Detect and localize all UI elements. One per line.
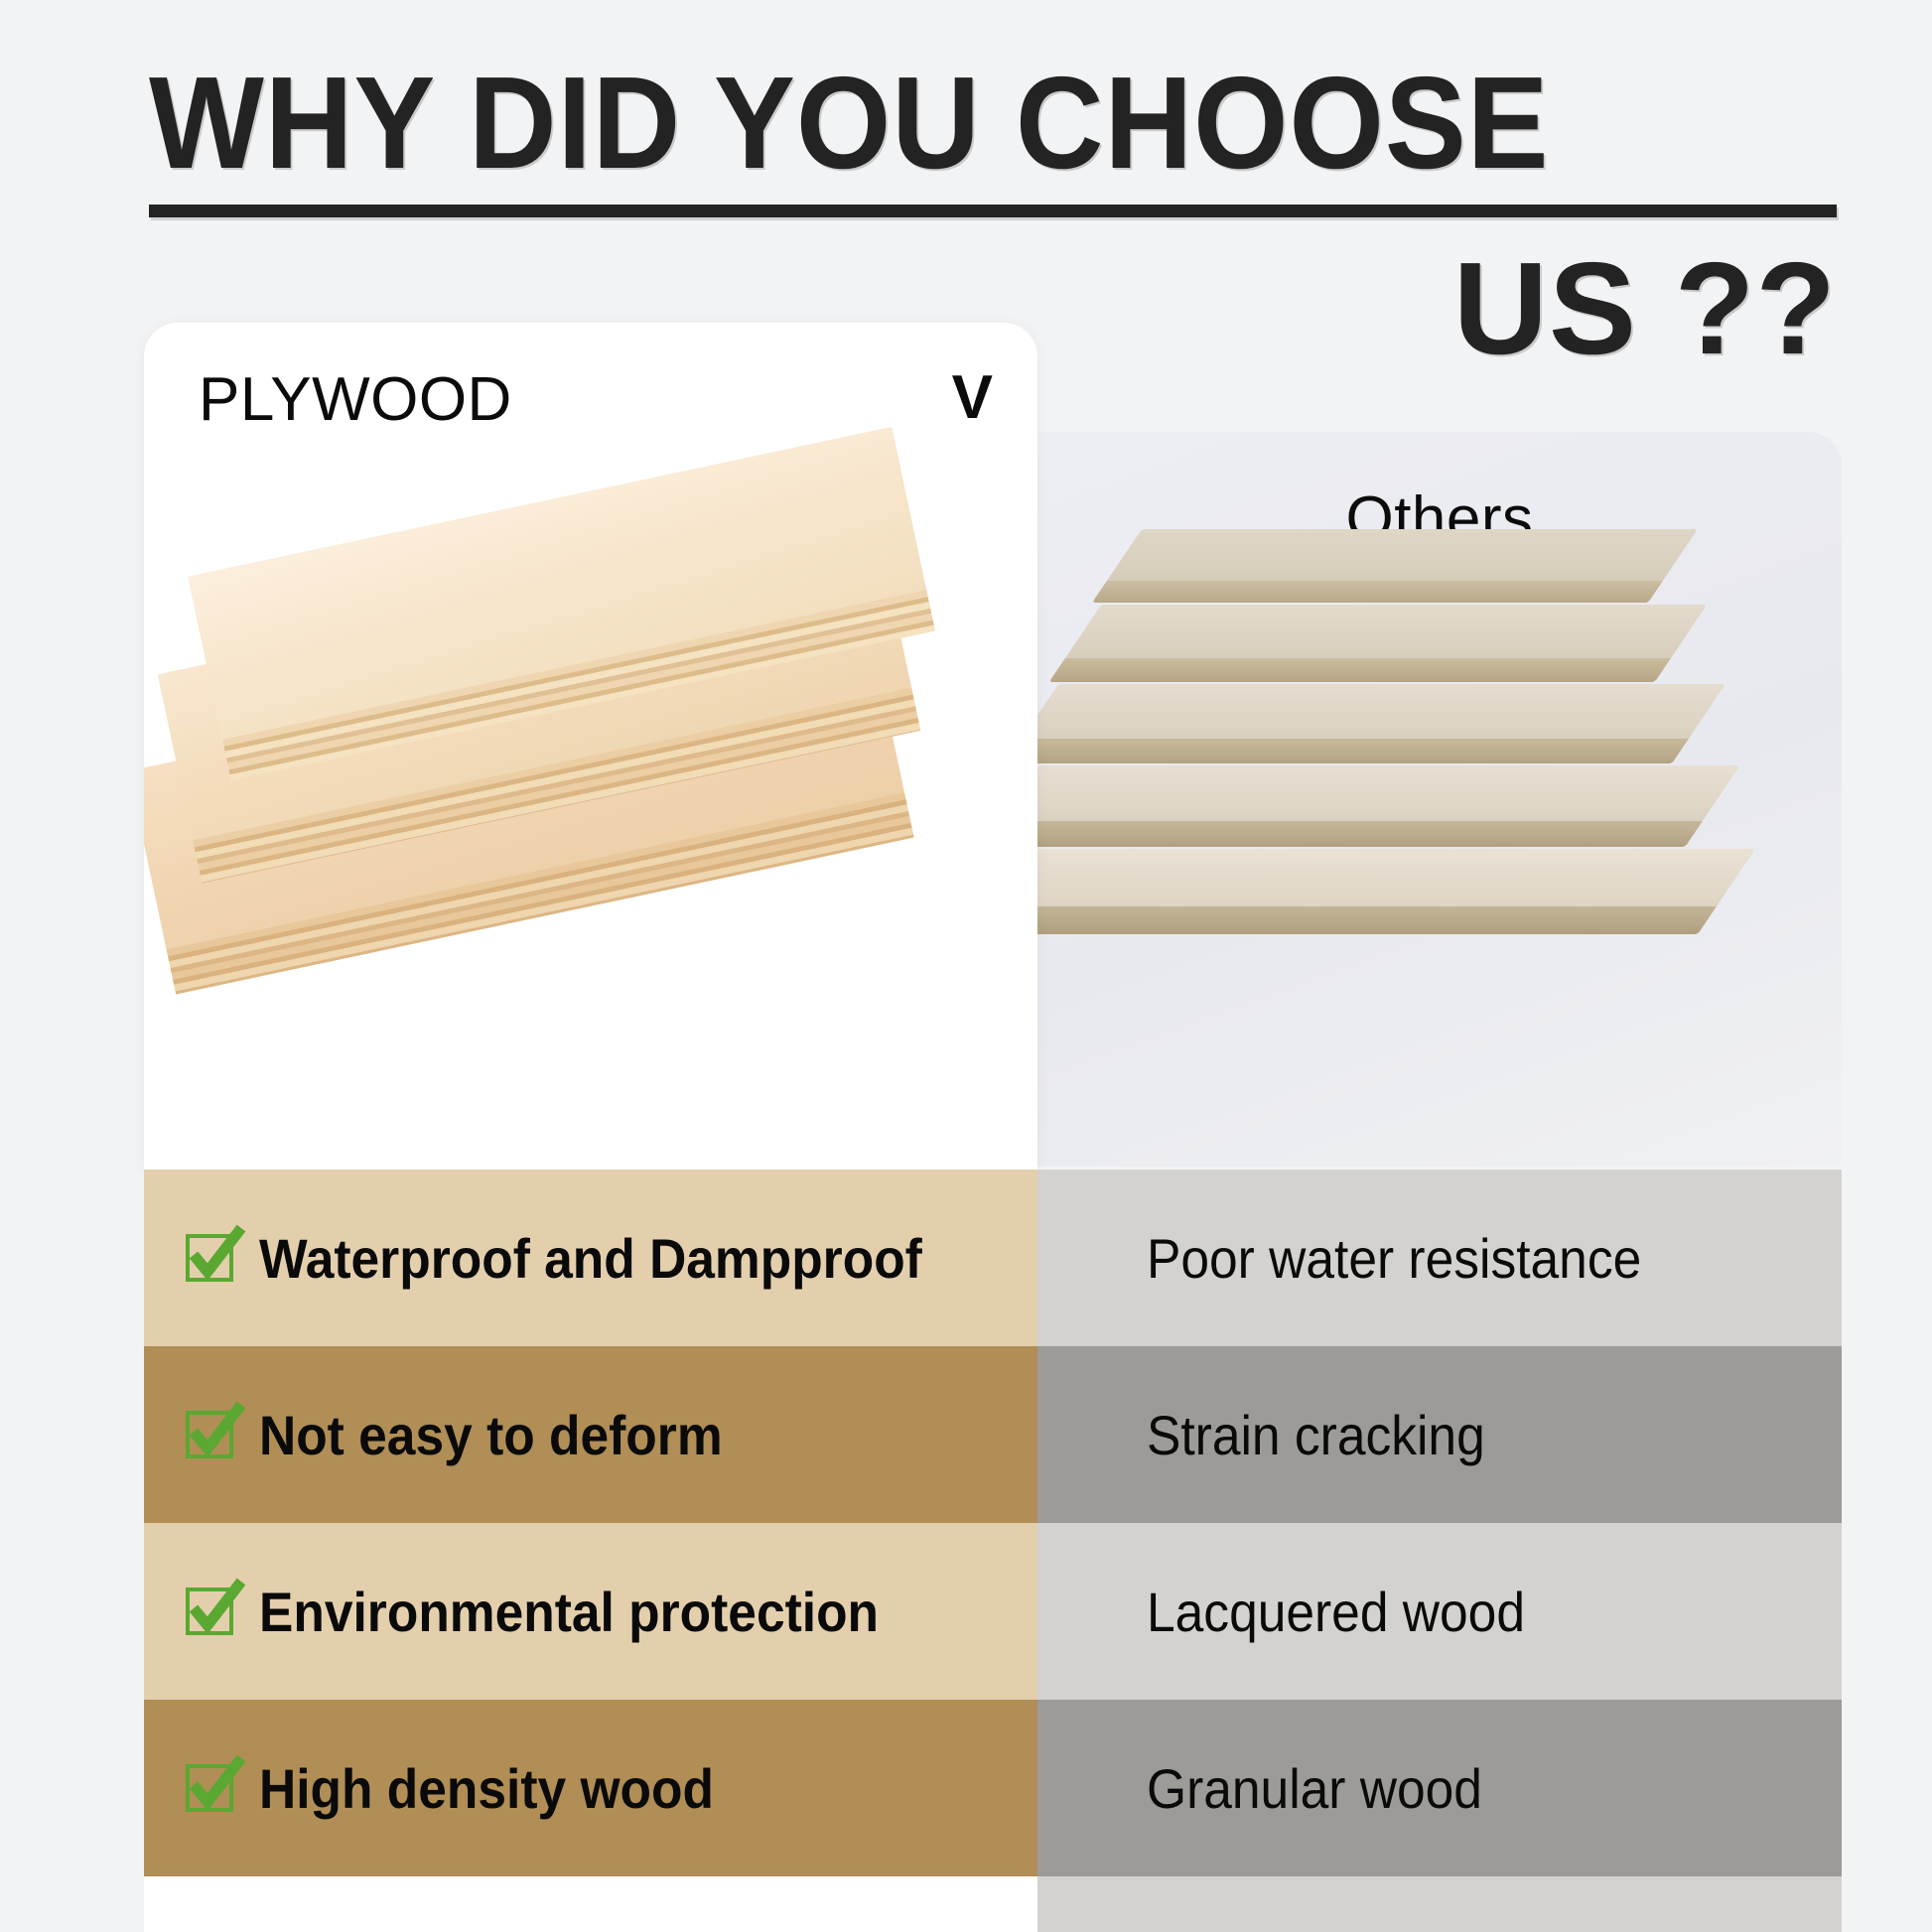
left-column-footer-strip (144, 1876, 1037, 1932)
row-label: Lacquered wood (1147, 1580, 1525, 1644)
table-row: Environmental protection (144, 1523, 1037, 1700)
others-panel: Others (1037, 432, 1842, 1167)
table-row: Waterproof and Dampproof (144, 1170, 1037, 1346)
comparison-right-column: Poor water resistance Strain cracking La… (1037, 1170, 1842, 1876)
row-label: Waterproof and Dampproof (259, 1226, 922, 1291)
row-label: Environmental protection (259, 1580, 879, 1644)
table-row: High density wood (144, 1700, 1037, 1876)
headline-underline (149, 205, 1837, 217)
table-row: Granular wood (1037, 1700, 1842, 1876)
plywood-stack-image (144, 392, 1037, 1167)
table-row: Lacquered wood (1037, 1523, 1842, 1700)
table-row: Not easy to deform (144, 1346, 1037, 1523)
plywood-card: PLYWOOD V (144, 323, 1037, 1170)
row-label: Granular wood (1147, 1756, 1482, 1821)
row-label: Poor water resistance (1147, 1226, 1641, 1291)
row-label: Not easy to deform (259, 1403, 723, 1467)
headline-line-1: WHY DID YOU CHOOSE (149, 58, 1719, 189)
check-icon (186, 1587, 233, 1635)
row-label: High density wood (259, 1756, 714, 1821)
table-row: Strain cracking (1037, 1346, 1842, 1523)
plywood-corner-mark: V (952, 362, 993, 433)
table-row: Poor water resistance (1037, 1170, 1842, 1346)
comparison-left-column: Waterproof and Dampproof Not easy to def… (144, 1170, 1037, 1876)
check-icon (186, 1411, 233, 1458)
particle-board-stack-image (1037, 521, 1842, 1157)
check-icon (186, 1234, 233, 1282)
plywood-panel-title: PLYWOOD (199, 364, 512, 435)
check-icon (186, 1764, 233, 1812)
right-column-footer-strip (1037, 1876, 1842, 1932)
row-label: Strain cracking (1147, 1403, 1485, 1467)
